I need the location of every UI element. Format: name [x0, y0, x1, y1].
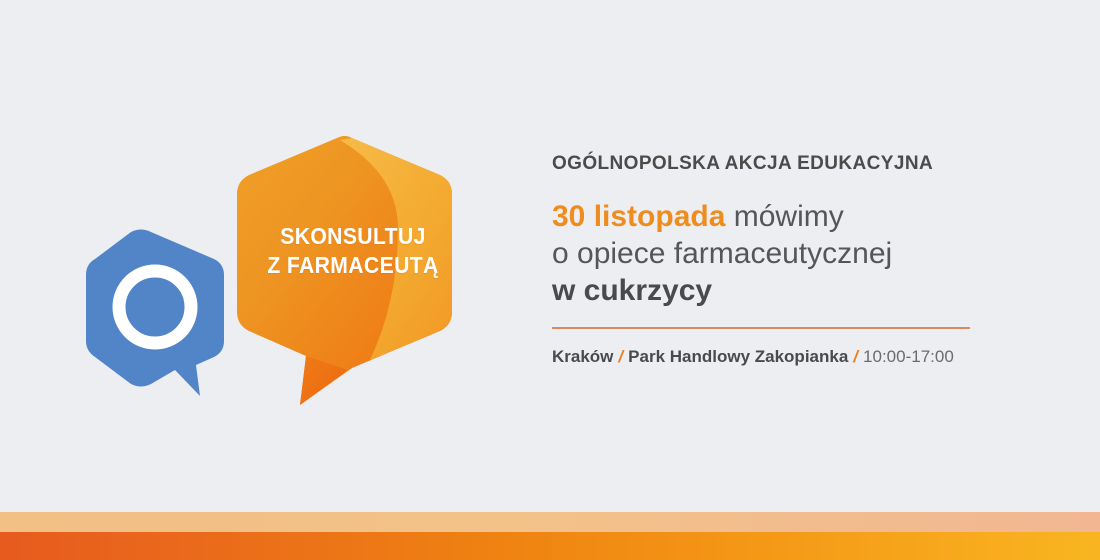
venue-line: Kraków/Park Handlowy Zakopianka/10:00-17…	[552, 346, 1052, 368]
venue-separator-2: /	[848, 347, 863, 366]
venue-separator-1: /	[613, 347, 628, 366]
headline: 30 listopada mówimy o opiece farmaceutyc…	[552, 198, 1052, 309]
divider-rule	[552, 327, 970, 329]
kicker-text: OGÓLNOPOLSKA AKCJA EDUKACYJNA	[552, 152, 1052, 176]
venue-hours: 10:00-17:00	[863, 347, 954, 366]
venue-place: Park Handlowy Zakopianka	[628, 347, 848, 366]
logo-lockup: SKONSULTUJ Z FARMACEUTĄ	[0, 0, 520, 500]
footer-gradient-stripe	[0, 532, 1100, 560]
headline-date-accent: 30 listopada	[552, 200, 725, 233]
orange-speech-bubble	[237, 136, 452, 405]
headline-line-2: o opiece farmaceutycznej	[552, 235, 1052, 272]
copy-block: OGÓLNOPOLSKA AKCJA EDUKACYJNA 30 listopa…	[552, 152, 1052, 368]
headline-line-3: w cukrzycy	[552, 272, 1052, 309]
headline-line-1-rest: mówimy	[725, 200, 843, 233]
blue-speech-bubble	[86, 230, 224, 397]
headline-line-1: 30 listopada mówimy	[552, 198, 1052, 235]
venue-city: Kraków	[552, 347, 613, 366]
footer-peach-stripe	[0, 512, 1100, 532]
promo-banner: SKONSULTUJ Z FARMACEUTĄ OGÓLNOPOLSKA AKC…	[0, 0, 1100, 560]
speech-bubbles-graphic	[0, 0, 520, 500]
